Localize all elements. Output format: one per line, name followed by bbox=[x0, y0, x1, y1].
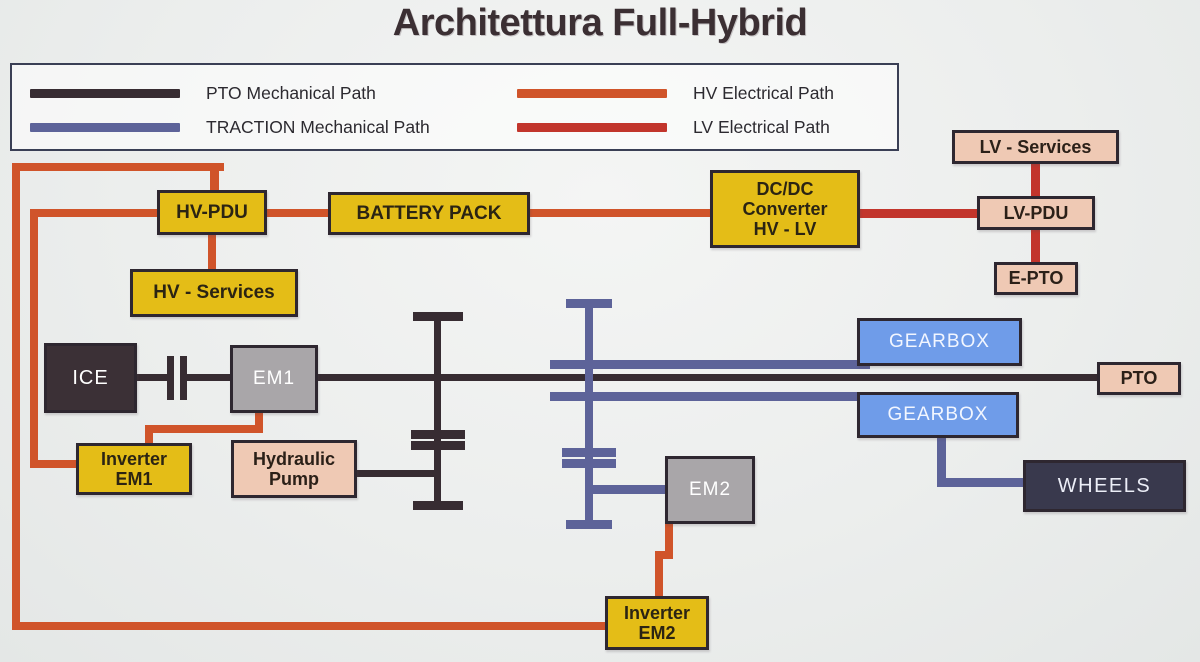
node-inverter-em1[interactable]: Inverter EM1 bbox=[76, 443, 192, 495]
pto-gear-crossbar-bottom bbox=[413, 501, 463, 510]
legend-item-lv-electrical: LV Electrical Path bbox=[517, 117, 830, 138]
pto-line-pump-to-shaft bbox=[353, 470, 438, 477]
node-ice-label: ICE bbox=[72, 367, 108, 389]
pto-main-shaft bbox=[315, 374, 1098, 381]
node-gearbox-top[interactable]: GEARBOX bbox=[857, 318, 1022, 366]
node-hv-services-label: HV - Services bbox=[153, 282, 274, 303]
node-pto-label: PTO bbox=[1121, 368, 1158, 388]
traction-crossbar-mid-lower bbox=[562, 459, 616, 468]
hv-line-pdu-to-hv-services bbox=[208, 234, 216, 272]
node-wheels-label: WHEELS bbox=[1058, 475, 1151, 497]
legend-item-hv-electrical: HV Electrical Path bbox=[517, 83, 834, 104]
node-wheels[interactable]: WHEELS bbox=[1023, 460, 1186, 512]
node-battery-pack[interactable]: BATTERY PACK bbox=[328, 192, 530, 235]
node-hv-services[interactable]: HV - Services bbox=[130, 269, 298, 317]
node-lv-pdu[interactable]: LV-PDU bbox=[977, 196, 1095, 230]
traction-line-lower-to-gearbox bbox=[550, 392, 870, 401]
traction-crossbar-top bbox=[566, 299, 612, 308]
legend-label-traction-mechanical: TRACTION Mechanical Path bbox=[206, 117, 430, 138]
node-dcdc-line1: DC/DC bbox=[757, 179, 814, 199]
hv-line-inner-top bbox=[30, 209, 160, 217]
node-em1[interactable]: EM1 bbox=[230, 345, 318, 413]
node-pto[interactable]: PTO bbox=[1097, 362, 1181, 395]
node-dcdc-line2: Converter bbox=[742, 199, 827, 219]
hv-line-pdu-to-battery bbox=[266, 209, 332, 217]
hv-line-em1-across bbox=[145, 425, 263, 433]
node-em2-label: EM2 bbox=[689, 479, 731, 500]
legend-panel: PTO Mechanical Path TRACTION Mechanical … bbox=[10, 63, 899, 151]
node-gearbox-top-label: GEARBOX bbox=[889, 331, 990, 352]
hv-line-outer-top bbox=[12, 163, 224, 171]
hv-line-battery-to-dcdc bbox=[528, 209, 714, 217]
node-inverter-em2-line1: Inverter bbox=[624, 603, 690, 623]
legend-label-hv-electrical: HV Electrical Path bbox=[693, 83, 834, 104]
hv-line-outer-left bbox=[12, 163, 20, 630]
hv-line-outer-bottom bbox=[12, 622, 612, 630]
pto-gear-crossbar-top bbox=[413, 312, 463, 321]
node-hydraulic-pump-line1: Hydraulic bbox=[253, 449, 335, 469]
hv-line-inner-left bbox=[30, 209, 38, 468]
legend-swatch-hv-electrical bbox=[517, 89, 667, 98]
node-gearbox-bottom-label: GEARBOX bbox=[888, 404, 989, 425]
diagram-canvas: Architettura Full-Hybrid PTO Mechanical … bbox=[0, 0, 1200, 662]
node-em1-label: EM1 bbox=[253, 368, 295, 389]
node-dcdc-line3: HV - LV bbox=[754, 219, 817, 239]
node-dcdc-converter[interactable]: DC/DC Converter HV - LV bbox=[710, 170, 860, 248]
node-ice[interactable]: ICE bbox=[44, 343, 137, 413]
pto-line-ice-to-clutch bbox=[133, 374, 169, 381]
pto-gear-crossbar-mid-lower bbox=[411, 441, 465, 450]
legend-item-traction-mechanical: TRACTION Mechanical Path bbox=[30, 117, 430, 138]
node-em2[interactable]: EM2 bbox=[665, 456, 755, 524]
lv-line-lvpdu-to-services bbox=[1031, 160, 1040, 200]
traction-line-gearbox-to-wheels bbox=[937, 478, 1032, 487]
legend-label-lv-electrical: LV Electrical Path bbox=[693, 117, 830, 138]
node-inverter-em1-line1: Inverter bbox=[101, 449, 167, 469]
node-hydraulic-pump[interactable]: Hydraulic Pump bbox=[231, 440, 357, 498]
node-lv-services[interactable]: LV - Services bbox=[952, 130, 1119, 164]
node-lv-services-label: LV - Services bbox=[980, 137, 1092, 157]
lv-line-lvpdu-to-epto bbox=[1031, 229, 1040, 266]
node-hydraulic-pump-line2: Pump bbox=[269, 469, 319, 489]
traction-vertical-shaft bbox=[585, 299, 593, 529]
lv-line-dcdc-to-lvpdu bbox=[857, 209, 982, 218]
node-hv-pdu[interactable]: HV-PDU bbox=[157, 190, 267, 235]
node-inverter-em2-line2: EM2 bbox=[638, 623, 675, 643]
node-gearbox-bottom[interactable]: GEARBOX bbox=[857, 392, 1019, 438]
node-lv-pdu-label: LV-PDU bbox=[1004, 203, 1069, 223]
legend-swatch-traction-mechanical bbox=[30, 123, 180, 132]
node-e-pto-label: E-PTO bbox=[1009, 268, 1064, 288]
traction-crossbar-mid-upper bbox=[562, 448, 616, 457]
traction-line-upper-to-gearbox bbox=[550, 360, 870, 369]
node-inverter-em2[interactable]: Inverter EM2 bbox=[605, 596, 709, 650]
legend-label-pto-mechanical: PTO Mechanical Path bbox=[206, 83, 376, 104]
traction-crossbar-bottom bbox=[566, 520, 612, 529]
pto-vertical-shaft bbox=[434, 312, 441, 510]
pto-clutch-plate-left bbox=[167, 356, 174, 400]
legend-item-pto-mechanical: PTO Mechanical Path bbox=[30, 83, 376, 104]
page-title: Architettura Full-Hybrid bbox=[0, 2, 1200, 45]
node-e-pto[interactable]: E-PTO bbox=[994, 262, 1078, 295]
pto-line-clutch-to-em1 bbox=[185, 374, 232, 381]
node-inverter-em1-line2: EM1 bbox=[115, 469, 152, 489]
pto-gear-crossbar-mid-upper bbox=[411, 430, 465, 439]
node-battery-pack-label: BATTERY PACK bbox=[357, 203, 502, 224]
node-hv-pdu-label: HV-PDU bbox=[176, 202, 248, 223]
hv-line-em2-inv-drop bbox=[655, 551, 663, 601]
traction-line-shaft-to-em2 bbox=[589, 485, 669, 494]
legend-swatch-pto-mechanical bbox=[30, 89, 180, 98]
legend-swatch-lv-electrical bbox=[517, 123, 667, 132]
